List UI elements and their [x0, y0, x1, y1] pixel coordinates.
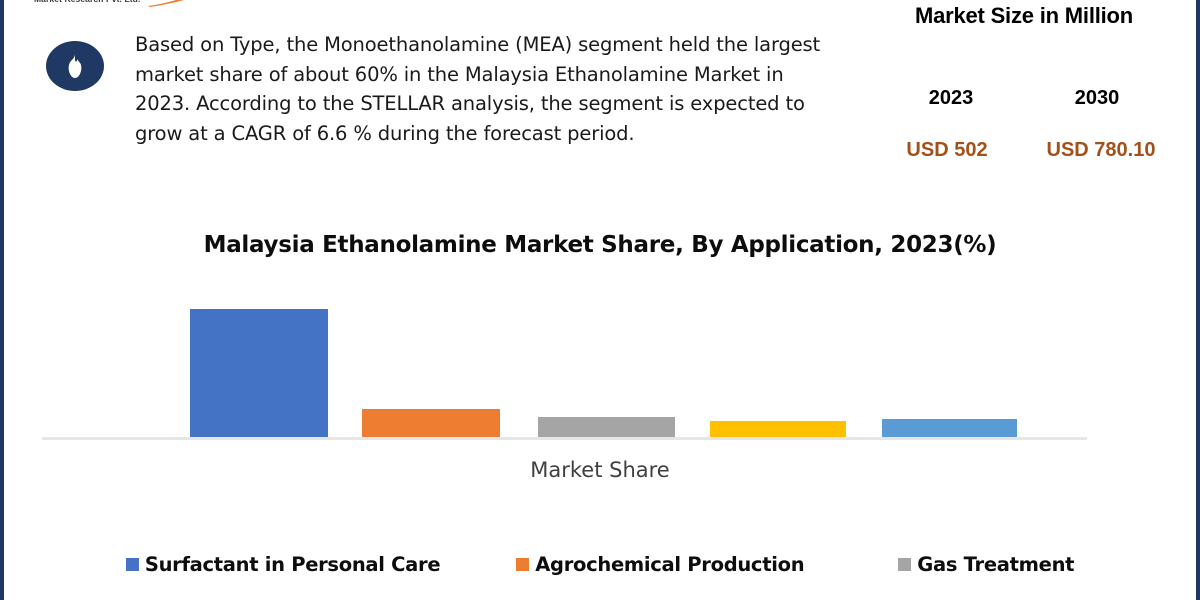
- legend-item[interactable]: Agrochemical Production: [516, 553, 804, 576]
- x-axis-label: Market Share: [4, 458, 1196, 482]
- chart-legend: Surfactant in Personal CareAgrochemical …: [4, 553, 1196, 576]
- legend-label: Agrochemical Production: [535, 553, 804, 576]
- market-size-value-2030: USD 780.10: [1026, 139, 1176, 162]
- legend-swatch-icon: [516, 558, 529, 571]
- market-size-values: USD 502 USD 780.10: [864, 139, 1184, 162]
- market-size-panel: Market Size in Million 2023 2030 USD 502…: [864, 0, 1184, 162]
- market-size-value-2023: USD 502: [872, 139, 1022, 162]
- company-logo: Market Research Pvt. Ltd.: [34, 0, 294, 18]
- bar: [538, 417, 675, 437]
- bar: [190, 309, 328, 437]
- chart-title: Malaysia Ethanolamine Market Share, By A…: [4, 232, 1196, 258]
- legend-swatch-icon: [126, 558, 139, 571]
- x-axis-line: [42, 437, 1087, 440]
- flame-icon: [65, 53, 85, 79]
- bar-chart-plot: [42, 295, 1087, 440]
- bar: [362, 409, 500, 437]
- intro-paragraph: Based on Type, the Monoethanolamine (MEA…: [135, 30, 835, 148]
- logo-text: Market Research Pvt. Ltd.: [34, 0, 140, 4]
- logo-swoosh-icon: [146, 0, 208, 8]
- legend-label: Surfactant in Personal Care: [145, 553, 440, 576]
- flame-badge: [46, 41, 104, 91]
- legend-item[interactable]: Surfactant in Personal Care: [126, 553, 440, 576]
- market-size-title: Market Size in Million: [864, 3, 1184, 29]
- bar-series: [42, 295, 1087, 437]
- bar: [710, 421, 846, 437]
- slide-frame: Market Research Pvt. Ltd. Based on Type,…: [0, 0, 1200, 600]
- bar: [882, 419, 1017, 437]
- market-size-years: 2023 2030: [864, 87, 1184, 110]
- legend-swatch-icon: [898, 558, 911, 571]
- market-size-year-2023: 2023: [886, 87, 1016, 110]
- legend-item[interactable]: Gas Treatment: [898, 553, 1074, 576]
- legend-label: Gas Treatment: [917, 553, 1074, 576]
- market-size-year-2030: 2030: [1032, 87, 1162, 110]
